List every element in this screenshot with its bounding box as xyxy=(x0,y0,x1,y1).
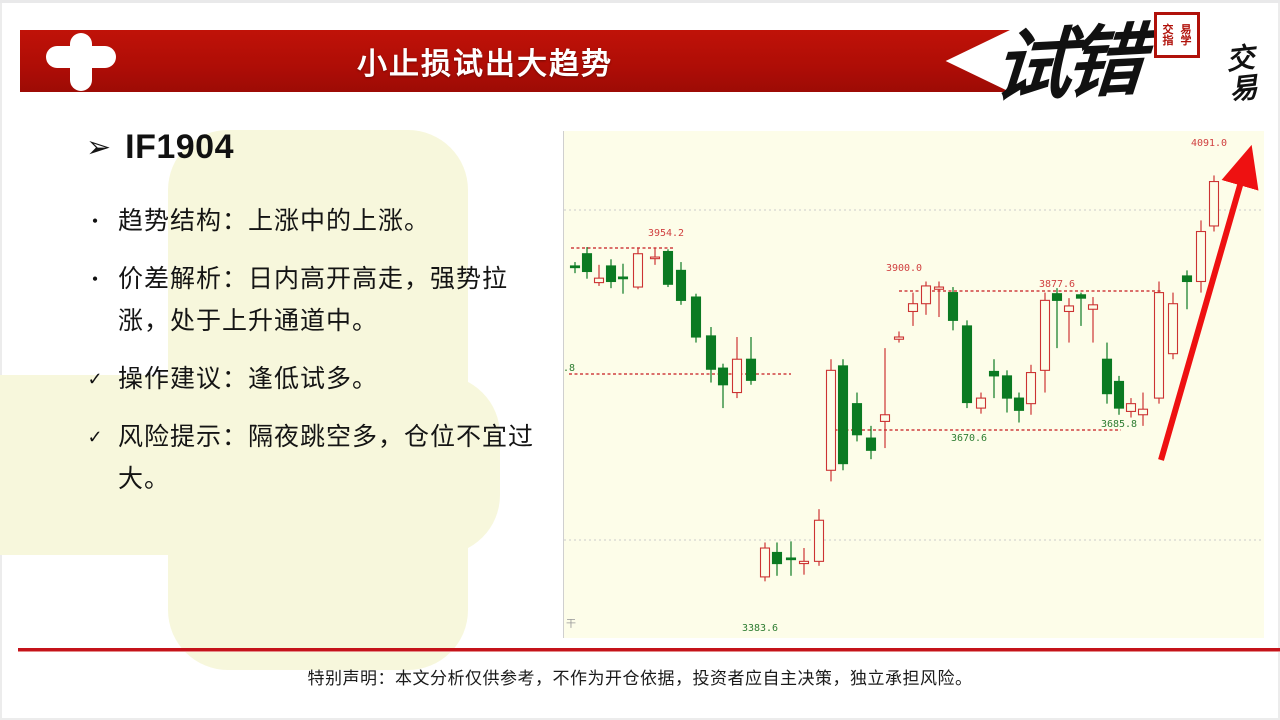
header-banner: 小止损试出大趋势 xyxy=(0,30,1010,92)
candle-body xyxy=(707,336,716,369)
candle-body xyxy=(1183,276,1192,282)
candle-body xyxy=(963,326,972,403)
price-label: 3877.6 xyxy=(1039,279,1075,290)
candle-body xyxy=(1197,232,1206,282)
candle-body xyxy=(1169,304,1178,354)
candle-body xyxy=(977,398,986,408)
check-text: 操作建议：逢低试多。 xyxy=(118,359,378,401)
seal-char-3: 学 xyxy=(1177,35,1195,46)
check-bullet-icon: ✓ xyxy=(86,417,104,457)
list-item: ✓ 风险提示：隔夜跳空多，仓位不宜过大。 xyxy=(86,417,556,501)
candle-body xyxy=(935,287,944,289)
chart-canvas: 3954.23900.03877.64091.03670.63685.83383… xyxy=(564,131,1264,638)
candle-body xyxy=(773,552,782,563)
price-label: 干 xyxy=(566,619,576,630)
dot-bullet-icon: • xyxy=(86,259,104,299)
arrow-bullet-icon: ➢ xyxy=(86,133,111,163)
candle-body xyxy=(607,266,616,282)
brand-logo: 试错 交 易 指 学 交 易 xyxy=(994,2,1262,124)
candle-body xyxy=(664,252,673,285)
candle-body xyxy=(815,520,824,561)
price-label: 3383.6 xyxy=(742,623,778,634)
candle-body xyxy=(949,293,958,321)
price-label: 3670.6 xyxy=(951,433,987,444)
brand-side-bottom: 易 xyxy=(1228,73,1259,106)
candle-body xyxy=(895,337,904,339)
candle-body xyxy=(990,371,999,375)
candle-body xyxy=(719,368,728,385)
check-bullet-icon: ✓ xyxy=(86,359,104,399)
candle-body xyxy=(1015,398,1024,410)
candle-body xyxy=(747,359,756,380)
left-edge xyxy=(0,0,2,720)
candle-body xyxy=(787,558,796,560)
candle-body xyxy=(1077,295,1086,298)
price-label: 4091.0 xyxy=(1191,138,1227,149)
brand-calligraphy: 试错 xyxy=(991,22,1141,107)
candle-body xyxy=(1003,376,1012,398)
slide-root: 小止损试出大趋势 试错 交 易 指 学 交 易 ➢ IF1904 • 趋势结构：… xyxy=(0,0,1280,720)
candle-body xyxy=(619,277,628,279)
candle-body xyxy=(839,366,848,464)
candle-body xyxy=(761,548,770,577)
price-label: 3954.2 xyxy=(648,228,684,239)
candle-body xyxy=(1027,373,1036,404)
bullet-text: 价差解析：日内高开高走，强势拉涨，处于上升通道中。 xyxy=(118,259,556,343)
candle-body xyxy=(1041,300,1050,370)
list-item: ✓ 操作建议：逢低试多。 xyxy=(86,359,556,401)
list-item: • 价差解析：日内高开高走，强势拉涨，处于上升通道中。 xyxy=(86,259,556,343)
price-label: 3685.8 xyxy=(1101,419,1137,430)
analysis-bullet-list: • 趋势结构：上涨中的上涨。 • 价差解析：日内高开高走，强势拉涨，处于上升通道… xyxy=(86,201,556,343)
check-text: 风险提示：隔夜跳空多，仓位不宜过大。 xyxy=(118,417,556,501)
disclaimer-text: 特别声明：本文分析仅供参考，不作为开仓依据，投资者应自主决策，独立承担风险。 xyxy=(0,664,1280,689)
candle-body xyxy=(571,266,580,268)
contract-code: IF1904 xyxy=(125,128,234,167)
candlestick-chart: 3954.23900.03877.64091.03670.63685.83383… xyxy=(563,131,1264,638)
price-label: .8 xyxy=(564,363,575,374)
candle-body xyxy=(733,359,742,392)
candle-body xyxy=(909,304,918,312)
candle-body xyxy=(1089,305,1098,309)
candle-body xyxy=(595,278,604,282)
candle-body xyxy=(692,297,701,337)
candle-body xyxy=(583,254,592,272)
page-title: 小止损试出大趋势 xyxy=(20,30,950,92)
footer-rule-thin xyxy=(18,651,1280,652)
price-label: 3900.0 xyxy=(886,263,922,274)
content-panel: ➢ IF1904 • 趋势结构：上涨中的上涨。 • 价差解析：日内高开高走，强势… xyxy=(86,128,556,517)
candle-body xyxy=(651,257,660,259)
candle-body xyxy=(853,404,862,435)
candle-body xyxy=(1065,306,1074,312)
dot-bullet-icon: • xyxy=(86,201,104,241)
bullet-text: 趋势结构：上涨中的上涨。 xyxy=(118,201,430,243)
candle-body xyxy=(1053,294,1062,301)
brand-side-text: 交 易 xyxy=(1225,43,1259,106)
candle-body xyxy=(800,561,809,563)
candle-body xyxy=(1127,404,1136,412)
advice-check-list: ✓ 操作建议：逢低试多。 ✓ 风险提示：隔夜跳空多，仓位不宜过大。 xyxy=(86,359,556,501)
candle-body xyxy=(677,270,686,300)
candle-body xyxy=(922,286,931,304)
list-item: • 趋势结构：上涨中的上涨。 xyxy=(86,201,556,243)
candle-body xyxy=(867,438,876,450)
seal-char-2: 指 xyxy=(1159,35,1177,46)
section-heading: ➢ IF1904 xyxy=(86,128,556,167)
candle-body xyxy=(881,415,890,422)
candle-body xyxy=(1103,359,1112,393)
brand-seal-icon: 交 易 指 学 xyxy=(1154,12,1200,58)
candle-body xyxy=(634,254,643,287)
candle-body xyxy=(827,370,836,470)
candle-body xyxy=(1115,381,1124,408)
candle-body xyxy=(1155,293,1164,399)
candle-body xyxy=(1139,409,1148,415)
candle-body xyxy=(1210,182,1219,226)
